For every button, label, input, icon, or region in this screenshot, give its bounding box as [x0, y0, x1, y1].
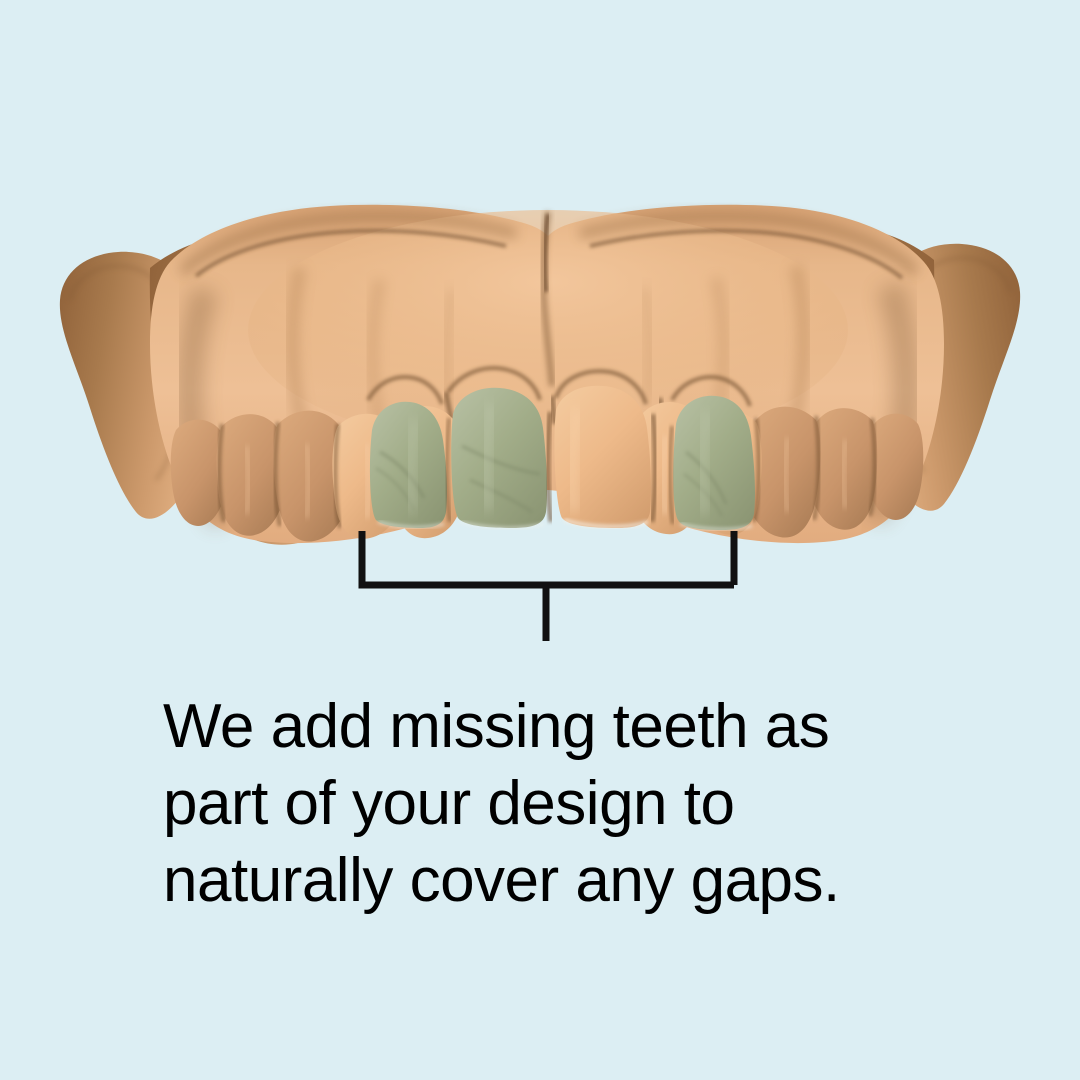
highlighted-tooth-3: [673, 396, 755, 530]
caption-line-1: We add missing teeth as: [163, 688, 943, 765]
caption-line-2: part of your design to: [163, 765, 943, 842]
caption-text: We add missing teeth as part of your des…: [163, 688, 943, 919]
slide-canvas: We add missing teeth as part of your des…: [0, 0, 1080, 1080]
caption-line-3: naturally cover any gaps.: [163, 842, 943, 919]
highlighted-tooth-2: [451, 388, 547, 528]
bracket-pointer: [362, 531, 734, 641]
